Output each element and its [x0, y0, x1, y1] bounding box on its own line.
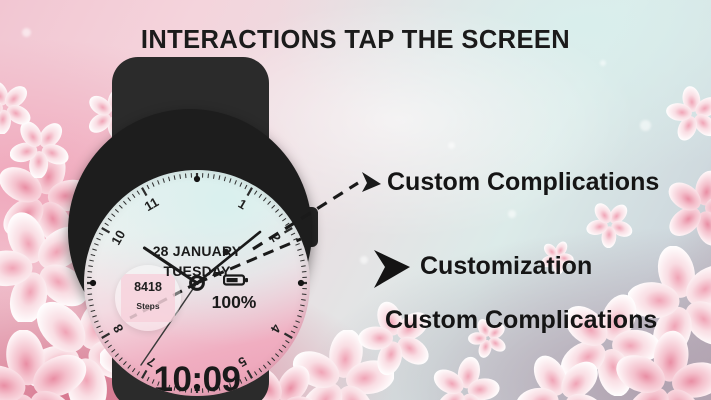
svg-text:7: 7 — [145, 354, 159, 371]
bokeh-dot — [448, 142, 455, 149]
battery-percent: 100% — [188, 292, 280, 313]
dial-hands — [84, 170, 310, 396]
watch-case: 8418 Steps 28 JANUARY TUESDAY 100% 10:09… — [68, 109, 312, 353]
watch-dial[interactable]: 8418 Steps 28 JANUARY TUESDAY 100% 10:09… — [84, 170, 310, 396]
callout-customization: Customization — [420, 252, 592, 281]
page-title: INTERACTIONS TAP THE SCREEN — [0, 26, 711, 55]
bokeh-dot — [508, 210, 516, 218]
blossom — [516, 352, 608, 400]
blossom — [612, 330, 711, 400]
bokeh-dot — [360, 256, 368, 264]
svg-text:4: 4 — [267, 322, 284, 336]
blossom — [586, 200, 634, 248]
steps-label: Steps — [115, 301, 181, 311]
screenshot-root: INTERACTIONS TAP THE SCREEN — [0, 0, 711, 400]
blossom — [0, 80, 32, 134]
steps-value: 8418 — [115, 280, 181, 294]
svg-text:11: 11 — [142, 194, 161, 214]
blossom — [430, 356, 500, 400]
svg-text:5: 5 — [236, 354, 250, 371]
battery-icon — [223, 273, 249, 287]
blossom — [666, 86, 711, 142]
svg-text:2: 2 — [268, 231, 285, 245]
svg-text:1: 1 — [236, 196, 250, 213]
steps-complication[interactable]: 8418 Steps — [115, 265, 181, 331]
callout-custom-complications-2: Custom Complications — [385, 306, 657, 335]
smartwatch: 8418 Steps 28 JANUARY TUESDAY 100% 10:09… — [61, 57, 319, 400]
callout-custom-complications-1: Custom Complications — [387, 168, 659, 197]
svg-text:10: 10 — [108, 227, 128, 247]
bokeh-dot — [600, 60, 606, 66]
dial-markings — [84, 170, 310, 396]
weekday-text: TUESDAY — [84, 263, 310, 279]
dial-numerals: 1245781011 — [84, 170, 310, 396]
svg-text:8: 8 — [110, 322, 127, 336]
bokeh-dot — [640, 120, 651, 131]
date-text: 28 JANUARY — [84, 243, 310, 259]
steps-complication-tile — [121, 274, 175, 322]
blossom — [664, 170, 711, 246]
